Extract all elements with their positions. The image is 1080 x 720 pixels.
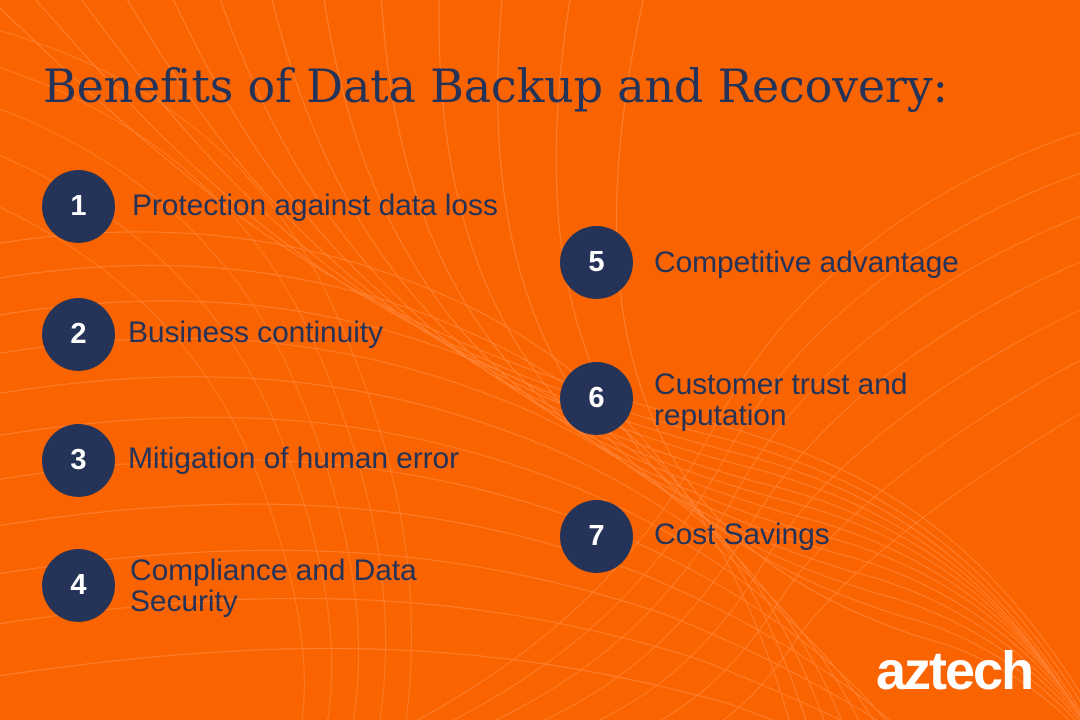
benefit-number-3: 3 xyxy=(70,446,86,475)
benefit-number-2: 2 xyxy=(70,320,86,349)
benefit-number-1: 1 xyxy=(70,192,86,221)
benefit-badge-1: 1 xyxy=(42,170,115,243)
benefit-badge-6: 6 xyxy=(560,362,633,435)
benefit-badge-3: 3 xyxy=(42,424,115,497)
benefit-label-1: Protection against data loss xyxy=(132,191,552,222)
benefit-badge-4: 4 xyxy=(42,549,115,622)
benefit-badge-5: 5 xyxy=(560,226,633,299)
benefit-number-7: 7 xyxy=(588,522,604,551)
benefit-label-6: Customer trust and reputation xyxy=(654,370,1054,431)
benefit-label-7: Cost Savings xyxy=(654,520,1054,551)
benefit-label-4: Compliance and Data Security xyxy=(130,556,530,617)
page-title: Benefits of Data Backup and Recovery: xyxy=(43,62,948,110)
benefit-badge-2: 2 xyxy=(42,298,115,371)
benefit-label-2: Business continuity xyxy=(128,318,548,349)
benefit-label-3: Mitigation of human error xyxy=(128,444,558,475)
benefit-number-4: 4 xyxy=(70,571,86,600)
benefit-badge-7: 7 xyxy=(560,500,633,573)
aztech-logo: aztech xyxy=(876,644,1032,698)
slide-canvas: Benefits of Data Backup and Recovery: 1 … xyxy=(0,0,1080,720)
benefit-number-5: 5 xyxy=(588,248,604,277)
benefit-number-6: 6 xyxy=(588,384,604,413)
benefit-label-5: Competitive advantage xyxy=(654,248,1054,279)
